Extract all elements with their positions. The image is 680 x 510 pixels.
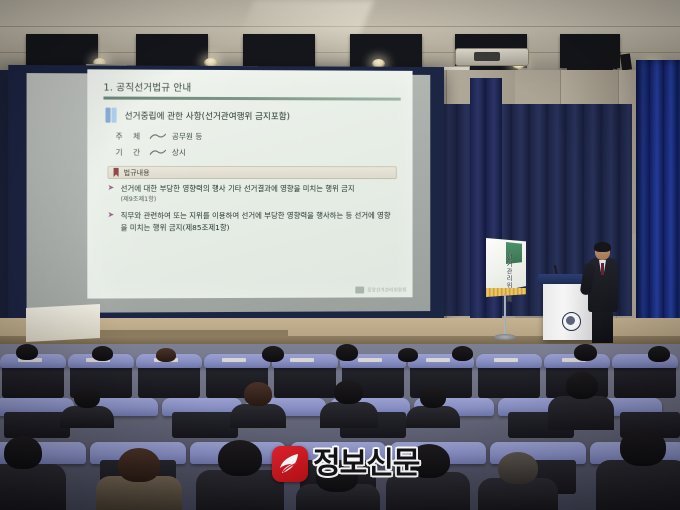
projected-slide: 1. 공직선거법규 안내 선거중립에 관한 사항(선거관여행위 금지포함) 주 … [87,69,412,298]
seat-number-tag [358,358,382,362]
slide-bullet-list: ➤ 선거에 대한 부당한 영향력의 행사 기타 선거결과에 영향을 미치는 행위… [108,183,397,233]
audience-head [218,440,262,476]
seat-back [138,364,200,398]
list-item: ➤ 직무와 관련하여 또는 지위를 이용하여 선거에 부당한 영향력을 행사하는… [108,210,397,233]
watermark: 정보신문 [272,446,419,482]
slide-meta-row-subject: 주 체 공무원 등 [116,131,403,143]
audience-head [16,344,38,360]
audience-head [620,428,666,466]
ceremonial-flag: 선거관리위원회 [486,238,530,340]
meta-value: 공무원 등 [172,131,202,142]
title-underline [103,97,400,101]
speaker-legs [592,309,613,343]
ceiling-baffle [350,34,422,68]
slide-footer-logo: 중앙선거관리위원회 [355,286,406,293]
audience-head [156,348,176,362]
audience-shoulders [60,406,114,428]
audience-shoulders [230,404,286,428]
bullet-main: 선거에 대한 부당한 영향력의 행사 기타 선거결과에 영향을 미치는 행위 금… [121,184,355,193]
org-mark-icon [355,287,364,294]
slide-subtitle-row: 선거중립에 관한 사항(선거관여행위 금지포함) [105,108,402,124]
audience-shoulders [548,396,614,430]
section-header-bar: 법규내용 [108,166,397,179]
audience-head [334,380,363,404]
audience-head [420,386,446,408]
meta-key: 주 체 [116,131,150,142]
projection-screen: 1. 공직선거법규 안내 선거중립에 관한 사항(선거관여행위 금지포함) 주 … [8,65,444,321]
audience-head [336,344,358,361]
audience-head [4,436,42,469]
audience-head [498,452,538,484]
audience-head [566,372,598,399]
seat-number-tag [494,358,518,362]
meta-key: 기 간 [116,147,150,158]
audience-shoulders [406,406,460,428]
ceiling-baffle [136,34,208,68]
bullet-arrow-icon: ➤ [108,211,116,219]
speaker-hair [594,242,611,252]
seat-number-tag [222,358,246,362]
jeongbo-sinmun-logo-icon [272,446,308,482]
audience-shoulders [320,402,378,428]
audience-shoulders [596,460,680,510]
section-header-label: 법규내용 [124,167,150,177]
audience-head [452,346,473,361]
audience-seating-area [0,344,680,510]
ceiling-baffle [243,34,315,68]
bullet-arrow-icon: ➤ [108,184,116,192]
audience-head [118,448,160,482]
wave-connector-icon [150,148,166,156]
slide-footer-text: 중앙선거관리위원회 [367,287,406,293]
flag-base [494,334,516,340]
audience-head [574,344,597,361]
podium-emblem-icon [562,312,581,331]
slide-subtitle: 선거중립에 관한 사항(선거관여행위 금지포함) [125,109,290,122]
seat-number-tag [426,358,450,362]
seat-back [614,364,676,398]
seat-back [478,364,540,398]
audience-head [92,346,113,361]
seat-back [2,364,64,398]
list-item: ➤ 선거에 대한 부당한 영향력의 행사 기타 선거결과에 영향을 미치는 행위… [108,183,397,205]
auditorium-photo: 1. 공직선거법규 안내 선거중립에 관한 사항(선거관여행위 금지포함) 주 … [0,0,680,510]
ceiling-baffle [26,34,98,68]
blue-book-icon [105,108,118,123]
bullet-note: (제9조제1항) [121,195,355,204]
audience-head [398,348,418,362]
meta-value: 상시 [172,147,186,158]
projector-lens [474,52,500,61]
bookmark-icon [114,168,119,177]
wave-connector-icon [150,132,166,140]
audience-head [262,346,284,362]
audience-head [648,346,670,362]
slide-title: 1. 공직선거법규 안내 [103,79,402,94]
audience-head [74,386,100,408]
slide-meta-row-period: 기 간 상시 [116,147,403,158]
speaker-presenter [586,243,620,341]
flag-pole [504,294,506,336]
audience-shoulders [196,470,284,510]
watermark-text: 정보신문 [313,449,419,479]
bullet-text: 선거에 대한 부당한 영향력의 행사 기타 선거결과에 영향을 미치는 행위 금… [121,183,355,204]
right-blue-curtain [636,60,680,352]
seat-back [172,412,238,438]
draped-table [26,304,100,342]
audience-head [244,382,272,406]
seat-number-tag [290,358,314,362]
ceiling [0,0,680,72]
audience-shoulders [0,464,66,510]
bullet-text: 직무와 관련하여 또는 지위를 이용하여 선거에 부당한 영향력을 행사하는 등… [121,210,397,232]
seat-back [274,364,336,398]
flag-fringe [486,288,526,297]
speaker-tie [601,263,604,275]
